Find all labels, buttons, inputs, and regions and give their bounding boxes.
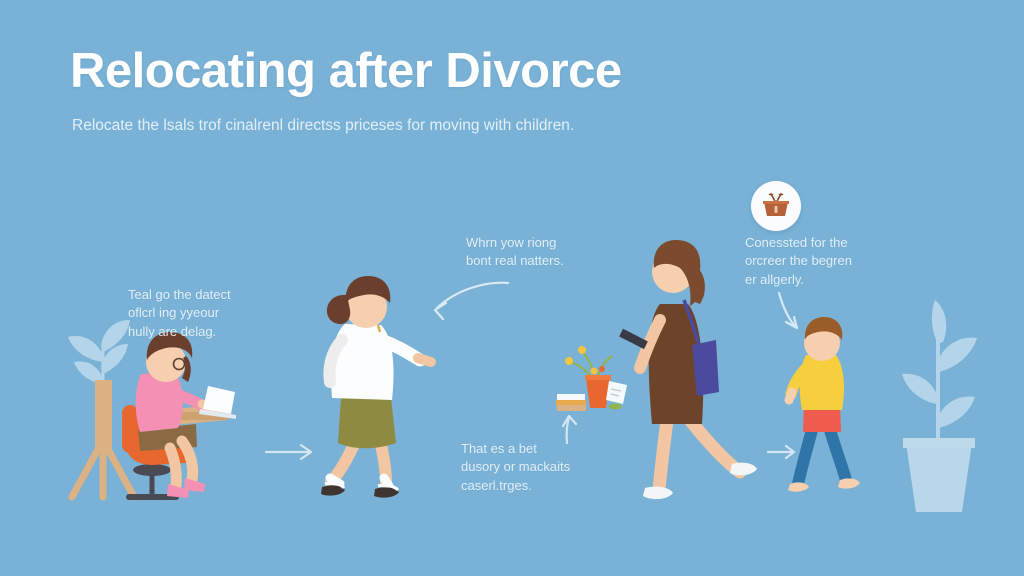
page-subtitle: Relocate the lsals trof cinalrenl direct… [72,117,574,135]
basket-icon [760,190,792,222]
arrow-right-icon [266,445,311,459]
arrow-right-icon-2 [768,446,794,458]
arrow-curve-left-icon [435,283,508,319]
figure-woman-with-phone [618,240,757,499]
note-step-4: Conessted for the orcreer the begren er … [745,234,895,289]
figure-woman-at-desk [122,332,236,498]
infographic-canvas: Relocating after Divorce Relocate the ls… [0,0,1024,576]
figure-child-walking [788,317,860,492]
still-life-books-pot [556,346,627,411]
note-step-1: Teal go the datect oflcrl ing yyeour hul… [128,286,278,341]
note-step-2: Whrn yow riong bont real natters. [466,234,606,271]
note-step-3: That es a bet dusory or mackaits caserl.… [461,440,626,495]
page-title: Relocating after Divorce [70,43,622,99]
arrow-up-icon [563,416,576,443]
arrow-down-icon [779,293,797,328]
basket-icon-badge[interactable] [751,181,801,231]
figure-girl-walking [321,276,431,498]
plant-right [902,300,977,512]
